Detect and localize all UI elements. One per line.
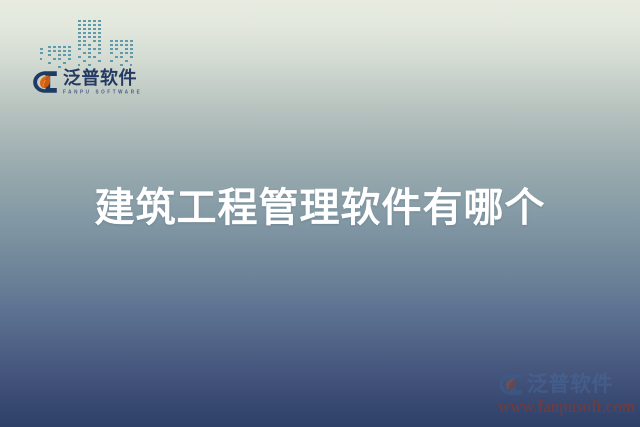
watermark-logo: 泛普软件 <box>498 371 634 397</box>
fanpu-swoosh-logo-icon <box>32 70 59 94</box>
watermark-name-cn: 泛普软件 <box>527 374 613 395</box>
slide-canvas: 泛普软件 FANPU SOFTWARE 建筑工程管理软件有哪个 泛普软件 www… <box>0 0 640 427</box>
pixel-city-skyline-icon <box>40 12 150 70</box>
watermark-url: www.fanpusoft.com <box>498 399 634 416</box>
brand-logo-text: 泛普软件 FANPU SOFTWARE <box>63 70 142 94</box>
brand-logo: 泛普软件 FANPU SOFTWARE <box>32 70 142 94</box>
watermark: 泛普软件 www.fanpusoft.com <box>498 371 634 421</box>
brand-block: 泛普软件 FANPU SOFTWARE <box>32 12 182 108</box>
fanpu-swoosh-logo-icon <box>498 373 524 396</box>
page-title: 建筑工程管理软件有哪个 <box>0 186 640 231</box>
brand-name-en: FANPU SOFTWARE <box>63 90 142 95</box>
brand-name-cn: 泛普软件 <box>63 70 142 89</box>
